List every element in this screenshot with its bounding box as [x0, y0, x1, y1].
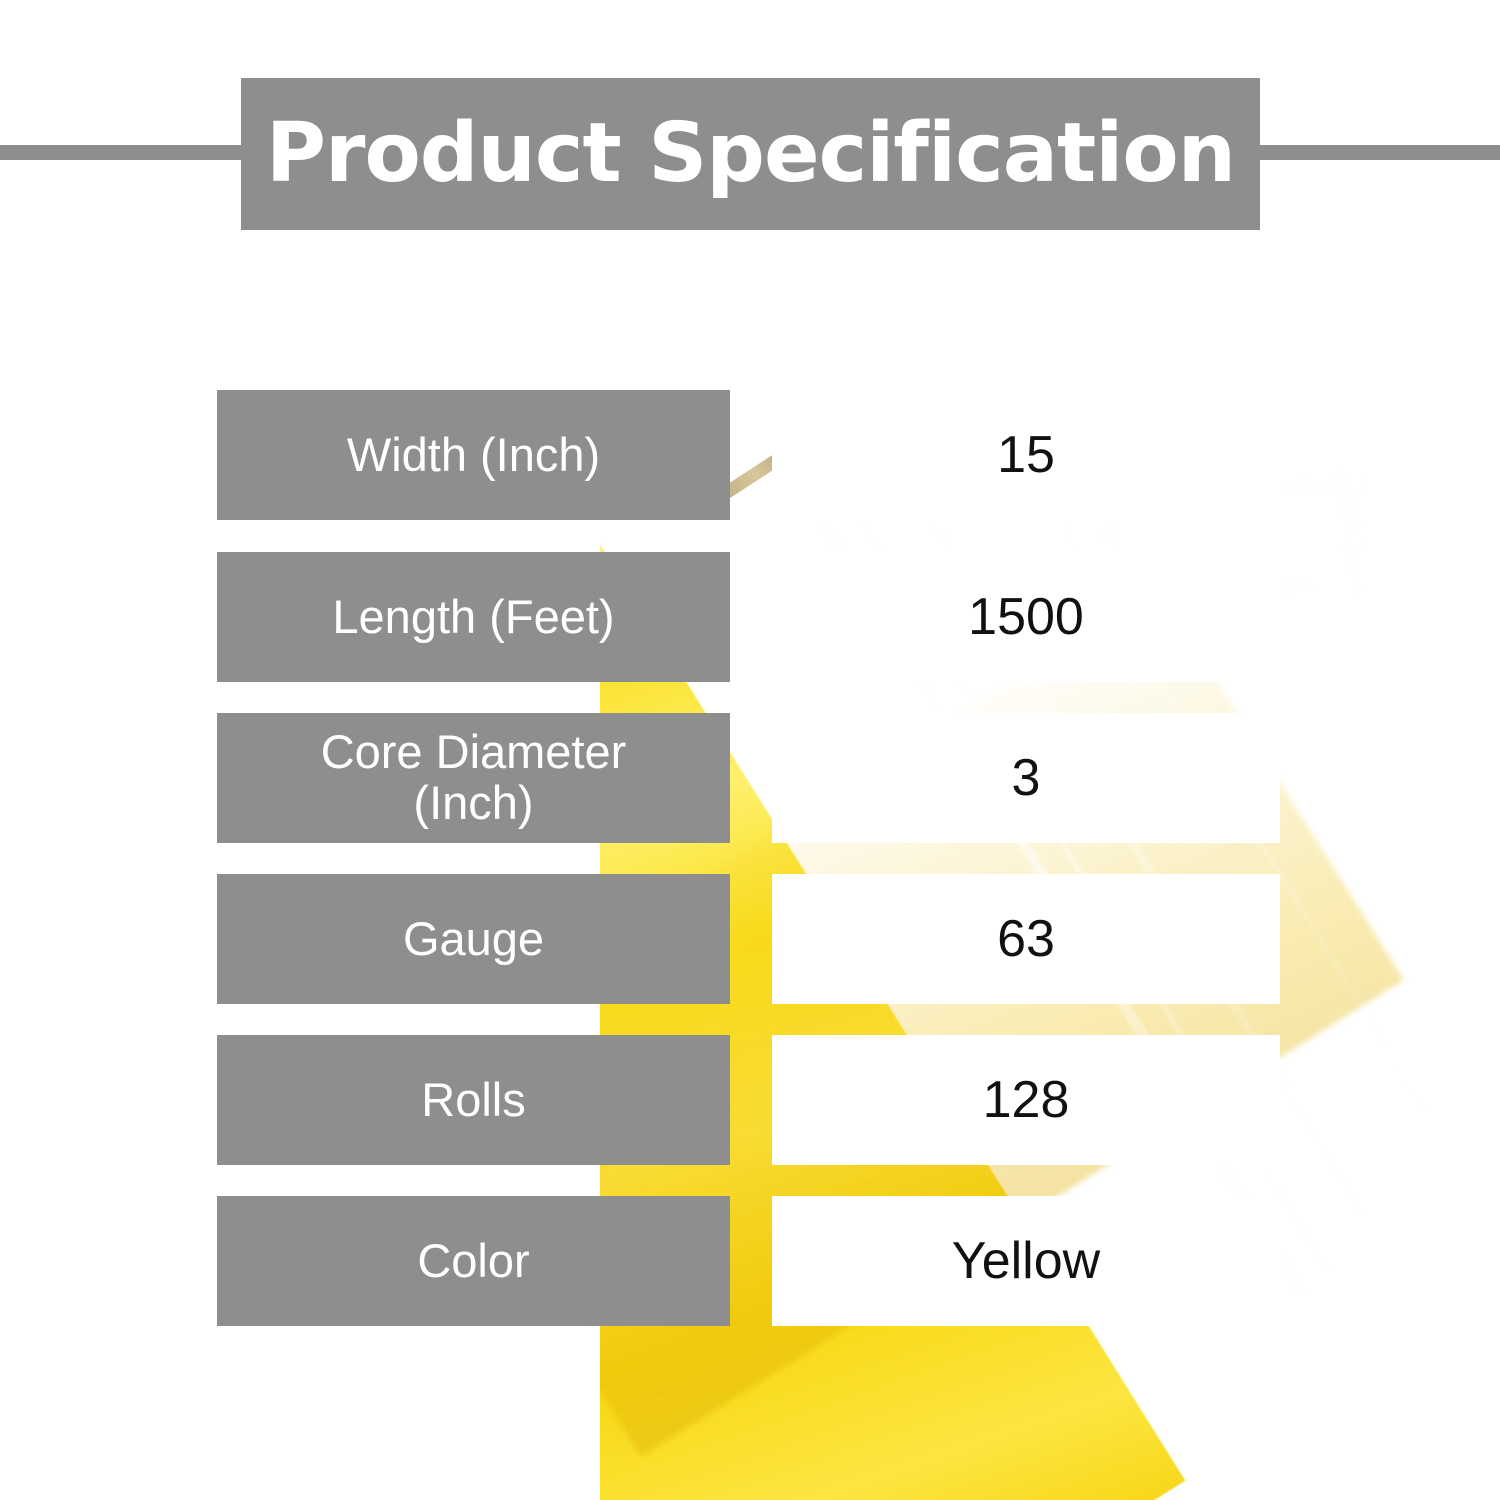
table-row: Length (Feet) 1500	[0, 552, 1500, 682]
spec-value: Yellow	[952, 1235, 1100, 1287]
spec-value-cell: 15	[772, 390, 1280, 520]
spec-label: Core Diameter(Inch)	[321, 727, 627, 829]
product-spec-graphic: Product Specification Width (Inch) 15 Le…	[0, 0, 1500, 1500]
spec-label-cell: Rolls	[217, 1035, 730, 1165]
spec-value: 1500	[968, 591, 1084, 643]
spec-value: 15	[997, 429, 1055, 481]
table-row: Rolls 128	[0, 1035, 1500, 1165]
spec-label: Width (Inch)	[347, 430, 600, 481]
spec-label: Gauge	[403, 914, 544, 965]
table-row: Color Yellow	[0, 1196, 1500, 1326]
spec-table: Width (Inch) 15 Length (Feet) 1500 Core …	[0, 0, 1500, 1500]
spec-label: Rolls	[421, 1075, 525, 1126]
spec-label-cell: Gauge	[217, 874, 730, 1004]
spec-label-cell: Width (Inch)	[217, 390, 730, 520]
table-row: Gauge 63	[0, 874, 1500, 1004]
spec-label-cell: Length (Feet)	[217, 552, 730, 682]
spec-label: Length (Feet)	[332, 592, 614, 643]
spec-value-cell: 63	[772, 874, 1280, 1004]
table-row: Core Diameter(Inch) 3	[0, 713, 1500, 843]
spec-value-cell: Yellow	[772, 1196, 1280, 1326]
spec-value: 3	[1012, 752, 1041, 804]
table-row: Width (Inch) 15	[0, 390, 1500, 520]
spec-label-cell: Color	[217, 1196, 730, 1326]
spec-value: 128	[983, 1074, 1070, 1126]
spec-value-cell: 1500	[772, 552, 1280, 682]
spec-value-cell: 128	[772, 1035, 1280, 1165]
spec-label: Color	[417, 1236, 529, 1287]
spec-label-cell: Core Diameter(Inch)	[217, 713, 730, 843]
spec-value: 63	[997, 913, 1055, 965]
spec-value-cell: 3	[772, 713, 1280, 843]
